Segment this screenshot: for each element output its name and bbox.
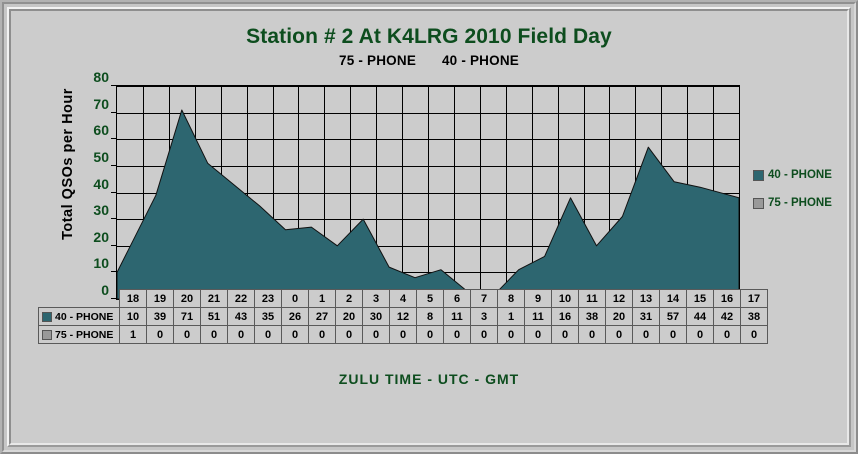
table-cell: 0 (552, 326, 579, 344)
table-cell: 0 (174, 326, 201, 344)
y-tick-label: 30 (69, 202, 109, 218)
table-header-cell: 14 (660, 290, 687, 308)
table-cell: 0 (201, 326, 228, 344)
table-header-cell: 10 (552, 290, 579, 308)
plot-area (116, 85, 740, 300)
y-tick-mark (111, 271, 116, 272)
table-header-cell: 0 (282, 290, 309, 308)
y-tick-mark (111, 192, 116, 193)
plot-wrapper (116, 74, 741, 290)
table-header-cell: 11 (579, 290, 606, 308)
table-cell: 0 (498, 326, 525, 344)
table-cell: 20 (606, 308, 633, 326)
table-cell: 0 (309, 326, 336, 344)
area-series-layer (117, 86, 739, 299)
table-cell: 3 (471, 308, 498, 326)
table-header-cell: 19 (147, 290, 174, 308)
table-header-cell: 6 (444, 290, 471, 308)
table-cell: 1 (498, 308, 525, 326)
x-axis-title: ZULU TIME - UTC - GMT (11, 371, 847, 387)
legend-item-label: 75 - PHONE (768, 197, 832, 209)
table-header-cell: 8 (498, 290, 525, 308)
table-cell: 0 (282, 326, 309, 344)
table-cell: 0 (444, 326, 471, 344)
table-header-cell: 17 (741, 290, 768, 308)
chart-title: Station # 2 At K4LRG 2010 Field Day (11, 25, 847, 49)
table-header-cell: 2 (336, 290, 363, 308)
table-cell: 0 (471, 326, 498, 344)
table-cell: 38 (579, 308, 606, 326)
y-tick-label: 70 (69, 96, 109, 112)
table-cell: 20 (336, 308, 363, 326)
table-header-cell: 9 (525, 290, 552, 308)
table-cell: 51 (201, 308, 228, 326)
table-cell: 35 (255, 308, 282, 326)
table-header-cell: 13 (633, 290, 660, 308)
table-row-label: 40 - PHONE (39, 308, 120, 326)
y-tick-label: 80 (69, 69, 109, 85)
chart-legend: 40 - PHONE75 - PHONE (753, 169, 853, 225)
table-cell: 0 (633, 326, 660, 344)
table-header-cell: 5 (417, 290, 444, 308)
table-cell: 27 (309, 308, 336, 326)
y-tick-mark (111, 245, 116, 246)
legend-swatch-icon (753, 198, 764, 209)
legend-item[interactable]: 40 - PHONE (753, 169, 853, 181)
legend-item-label: 40 - PHONE (768, 169, 832, 181)
table-cell: 42 (714, 308, 741, 326)
series-swatch-icon (42, 312, 52, 322)
series-swatch-icon (42, 330, 52, 340)
table-cell: 10 (120, 308, 147, 326)
table-header-cell: 21 (201, 290, 228, 308)
table-header-cell: 16 (714, 290, 741, 308)
y-tick-mark (111, 85, 116, 86)
y-tick-label: 20 (69, 229, 109, 245)
y-tick-mark (111, 112, 116, 113)
table-cell: 0 (606, 326, 633, 344)
table-row: 75 - PHONE100000000000000000000000 (39, 326, 768, 344)
table-cell: 0 (741, 326, 768, 344)
table-cell: 0 (687, 326, 714, 344)
subtitle-left: 75 - PHONE (339, 53, 416, 68)
table-header-cell: 23 (255, 290, 282, 308)
table-cell: 0 (579, 326, 606, 344)
y-tick-mark (111, 138, 116, 139)
table-header-cell: 7 (471, 290, 498, 308)
table-header-cell: 12 (606, 290, 633, 308)
chart-window: Station # 2 At K4LRG 2010 Field Day 75 -… (0, 0, 858, 454)
table-corner-cell (39, 290, 120, 308)
table-header-cell: 15 (687, 290, 714, 308)
data-table: 18192021222301234567891011121314151617 4… (38, 289, 768, 344)
table-header-cell: 4 (390, 290, 417, 308)
table-cell: 0 (390, 326, 417, 344)
table-header-cell: 3 (363, 290, 390, 308)
table-cell: 0 (417, 326, 444, 344)
table-row: 40 - PHONE103971514335262720301281131111… (39, 308, 768, 326)
y-tick-mark (111, 165, 116, 166)
table-row-label: 75 - PHONE (39, 326, 120, 344)
table-cell: 11 (525, 308, 552, 326)
table-cell: 0 (255, 326, 282, 344)
y-tick-label: 40 (69, 176, 109, 192)
table-cell: 38 (741, 308, 768, 326)
table-cell: 0 (660, 326, 687, 344)
table-header-cell: 22 (228, 290, 255, 308)
chart-content: Station # 2 At K4LRG 2010 Field Day 75 -… (11, 11, 847, 443)
table-cell: 0 (228, 326, 255, 344)
legend-item[interactable]: 75 - PHONE (753, 197, 853, 209)
table-cell: 0 (336, 326, 363, 344)
y-tick-mark (111, 218, 116, 219)
table-cell: 57 (660, 308, 687, 326)
table-cell: 44 (687, 308, 714, 326)
table-header-cell: 20 (174, 290, 201, 308)
chart-subtitle: 75 - PHONE 40 - PHONE (11, 53, 847, 68)
table-cell: 0 (147, 326, 174, 344)
table-cell: 43 (228, 308, 255, 326)
table-cell: 16 (552, 308, 579, 326)
table-cell: 1 (120, 326, 147, 344)
y-tick-label: 60 (69, 122, 109, 138)
table-cell: 11 (444, 308, 471, 326)
table-cell: 39 (147, 308, 174, 326)
y-tick-label: 10 (69, 255, 109, 271)
table-cell: 0 (525, 326, 552, 344)
table-header-row: 18192021222301234567891011121314151617 (39, 290, 768, 308)
table-cell: 0 (714, 326, 741, 344)
table-header-cell: 1 (309, 290, 336, 308)
subtitle-right: 40 - PHONE (442, 53, 519, 68)
table-cell: 0 (363, 326, 390, 344)
table-cell: 8 (417, 308, 444, 326)
table-header-cell: 18 (120, 290, 147, 308)
table-cell: 12 (390, 308, 417, 326)
table-cell: 26 (282, 308, 309, 326)
y-axis-tick-labels: 01020304050607080 (69, 66, 109, 298)
y-tick-label: 50 (69, 149, 109, 165)
table-cell: 30 (363, 308, 390, 326)
table-cell: 31 (633, 308, 660, 326)
table-cell: 71 (174, 308, 201, 326)
legend-swatch-icon (753, 170, 764, 181)
